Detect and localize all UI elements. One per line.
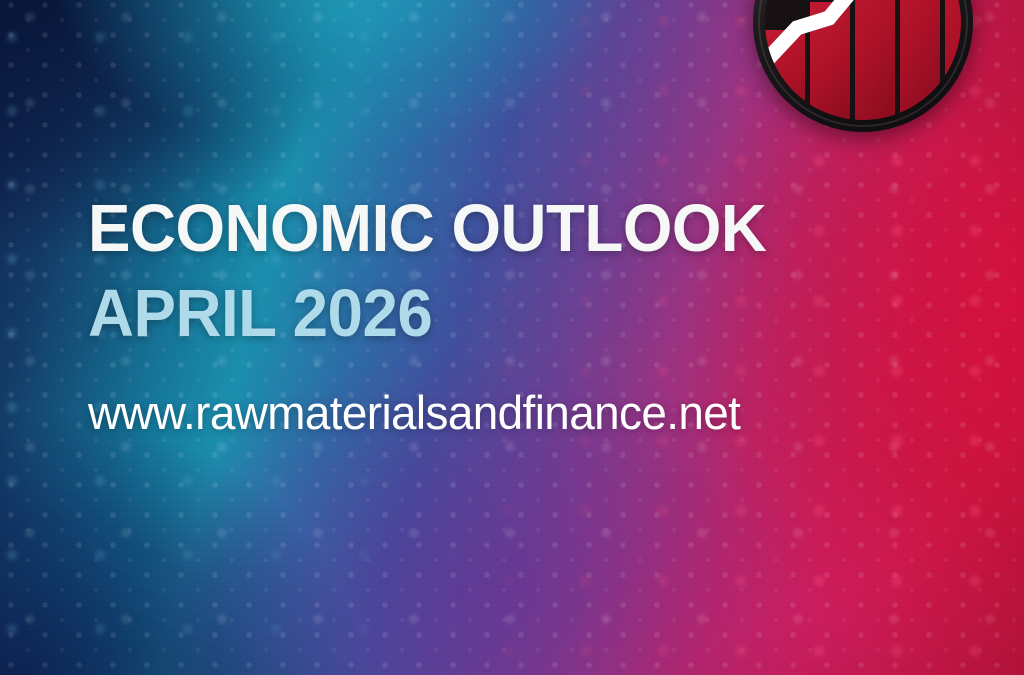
banner-text-block: ECONOMIC OUTLOOK APRIL 2026 www.rawmater…	[88, 186, 802, 439]
bar-chart-growth-logo	[751, 0, 975, 134]
logo-bar-3	[855, 0, 895, 134]
page-subtitle-date: APRIL 2026	[88, 271, 766, 356]
page-title: ECONOMIC OUTLOOK	[88, 186, 766, 271]
website-url: www.rawmaterialsandfinance.net	[88, 387, 784, 439]
promo-banner: ECONOMIC OUTLOOK APRIL 2026 www.rawmater…	[0, 0, 1024, 675]
